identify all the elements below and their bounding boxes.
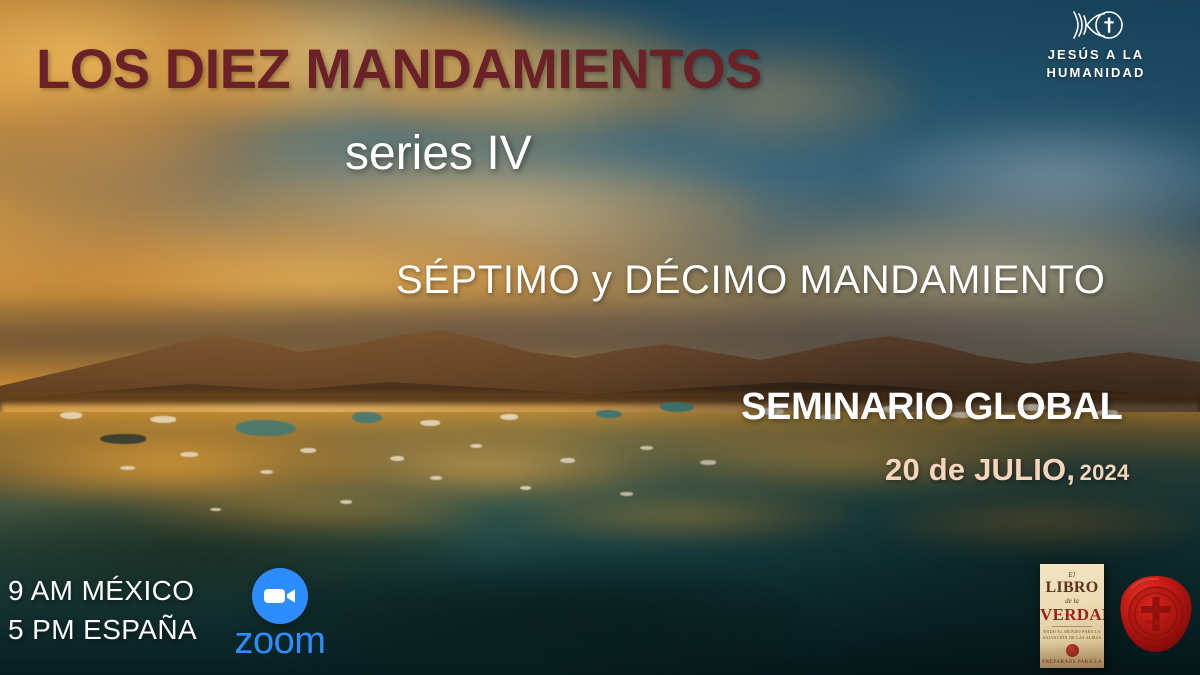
book-divider — [1052, 626, 1092, 627]
event-date-year: 2024 — [1080, 460, 1130, 485]
book-cover: El LIBRO de la VERDAD DADO AL MUNDO PARA… — [1040, 564, 1104, 668]
video-camera-icon — [263, 586, 297, 606]
event-type-label: SEMINARIO GLOBAL — [741, 386, 1123, 429]
book-red-line1: PREPARAOS PARA LA — [1040, 659, 1104, 667]
book-line-verdad: VERDAD — [1040, 606, 1104, 623]
zoom-icon-circle — [252, 568, 308, 624]
brand-name: JESÚS A LA HUMANIDAD — [1008, 46, 1184, 83]
zoom-wordmark: zoom — [228, 622, 332, 660]
event-date-main: 20 de JULIO, — [885, 452, 1075, 487]
series-label: series IV — [345, 126, 532, 181]
event-time-spain: 5 PM ESPAÑA — [8, 611, 197, 650]
book-line-el: El — [1040, 571, 1104, 579]
brand-logo: JESÚS A LA HUMANIDAD — [1008, 8, 1184, 83]
ichthys-fish-cross-icon — [1065, 8, 1127, 42]
event-time-mexico: 9 AM MÉXICO — [8, 572, 197, 611]
zoom-logo[interactable]: zoom — [228, 568, 332, 660]
event-date: 20 de JULIO, 2024 — [885, 452, 1129, 488]
book-line-dela: de la — [1040, 597, 1104, 605]
book-seal-icon — [1066, 644, 1079, 657]
book-line-libro: LIBRO — [1040, 580, 1104, 596]
book-subtitle: DADO AL MUNDO PARA LA SALVACIÓN DE LAS A… — [1040, 629, 1104, 641]
book-red-line2: SEGUNDA VENIDA — [1040, 667, 1104, 669]
poster-title: LOS DIEZ MANDAMIENTOS — [36, 36, 762, 101]
promotional-poster: JESÚS A LA HUMANIDAD LOS DIEZ MANDAMIENT… — [0, 0, 1200, 675]
wax-seal-cross-icon — [1118, 574, 1194, 654]
event-times: 9 AM MÉXICO 5 PM ESPAÑA — [8, 572, 197, 649]
brand-name-line1: JESÚS A LA — [1008, 46, 1184, 64]
brand-name-line2: HUMANIDAD — [1008, 64, 1184, 82]
commandments-subtitle: SÉPTIMO y DÉCIMO MANDAMIENTO — [396, 258, 1105, 303]
